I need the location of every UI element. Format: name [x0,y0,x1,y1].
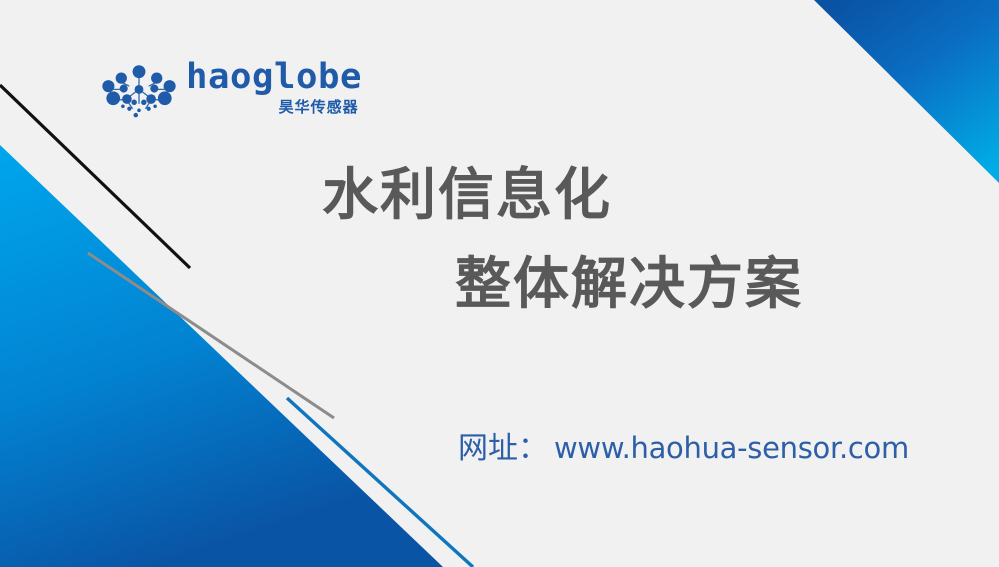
website-label: 网址： [458,423,548,467]
company-logo: haoglobe 昊华传感器 [98,58,323,122]
presentation-title-slide: haoglobe 昊华传感器 水利信息化 整体解决方案 网址： www.haoh… [0,0,999,567]
logo-chinese-name: 昊华传感器 [279,100,359,115]
logo-wordmark: haoglobe [186,60,362,95]
network-dots-icon [98,62,180,120]
slide-title-line-2: 整体解决方案 [455,257,922,313]
website-line: 网址： www.haohua-sensor.com [458,423,909,467]
website-url[interactable]: www.haohua-sensor.com [554,431,909,465]
slide-title-line-1: 水利信息化 [322,168,922,224]
slide-title: 水利信息化 整体解决方案 [322,168,922,313]
logo-text-block: haoglobe 昊华传感器 [186,58,359,115]
